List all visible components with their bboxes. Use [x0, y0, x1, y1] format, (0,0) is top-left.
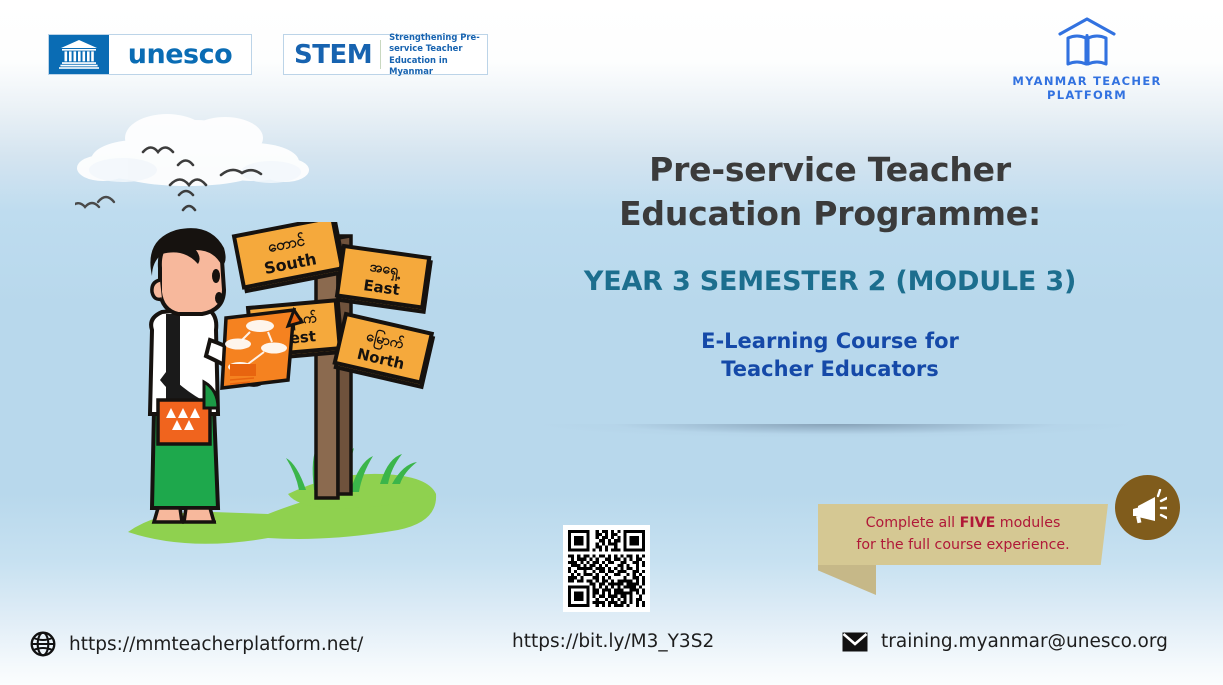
signpost-east: အရှေ့ East — [336, 246, 431, 312]
page-title: Pre-service Teacher Education Programme: — [530, 148, 1130, 236]
stem-wordmark: STEM — [284, 40, 380, 70]
course-subtitle: YEAR 3 SEMESTER 2 (MODULE 3) — [530, 266, 1130, 297]
stem-tagline: Strengthening Pre-service Teacher Educat… — [381, 32, 487, 76]
megaphone-icon — [1115, 475, 1180, 540]
myanmar-teacher-platform-logo: MYANMAR TEACHER PLATFORM — [987, 14, 1187, 102]
footer-email[interactable]: training.myanmar@unesco.org — [842, 631, 1168, 652]
footer-website[interactable]: https://mmteacherplatform.net/ — [30, 631, 363, 657]
student-reading-map-illustration: တောင် South အရှေ့ East အနောက် West — [118, 222, 438, 587]
callout-suffix: modules — [995, 515, 1060, 531]
unesco-logo: unesco — [48, 34, 252, 75]
callout-emphasis: FIVE — [960, 515, 996, 531]
course-qr-code[interactable] — [563, 525, 650, 612]
footer-email-text: training.myanmar@unesco.org — [881, 631, 1168, 652]
callout-line-1: Complete all FIVE modules — [866, 513, 1061, 534]
course-descriptor: E-Learning Course for Teacher Educators — [530, 327, 1130, 384]
footer-short-link-text: https://bit.ly/M3_Y3S2 — [512, 631, 714, 652]
map-prop — [222, 310, 302, 388]
flying-birds-icon — [75, 140, 315, 225]
callout-body: Complete all FIVE modules for the full c… — [818, 504, 1108, 565]
title-line-2: Education Programme: — [530, 192, 1130, 236]
callout-line-2: for the full course experience. — [856, 535, 1069, 556]
unesco-wordmark: unesco — [109, 35, 251, 74]
footer-short-link[interactable]: https://bit.ly/M3_Y3S2 — [512, 631, 714, 652]
course-line-2: Teacher Educators — [530, 355, 1130, 383]
title-line-1: Pre-service Teacher — [530, 148, 1130, 192]
stem-logo: STEM Strengthening Pre-service Teacher E… — [283, 34, 488, 75]
main-text-block: Pre-service Teacher Education Programme:… — [530, 148, 1130, 383]
modules-callout-banner: Complete all FIVE modules for the full c… — [818, 504, 1108, 565]
callout-fold-ribbon — [818, 565, 876, 595]
footer-website-text: https://mmteacherplatform.net/ — [69, 634, 363, 655]
footer-contact-bar: https://mmteacherplatform.net/ https://b… — [0, 619, 1223, 685]
callout-prefix: Complete all — [866, 515, 960, 531]
envelope-icon — [842, 632, 868, 652]
globe-icon — [30, 631, 56, 657]
section-divider-shadow — [528, 424, 1144, 448]
header-logo-bar: unesco STEM Strengthening Pre-service Te… — [0, 0, 1223, 104]
house-open-book-icon — [987, 14, 1187, 70]
poster-canvas: unesco STEM Strengthening Pre-service Te… — [0, 0, 1223, 685]
course-line-1: E-Learning Course for — [530, 327, 1130, 355]
platform-name: MYANMAR TEACHER PLATFORM — [987, 74, 1187, 102]
unesco-temple-icon — [49, 35, 109, 74]
